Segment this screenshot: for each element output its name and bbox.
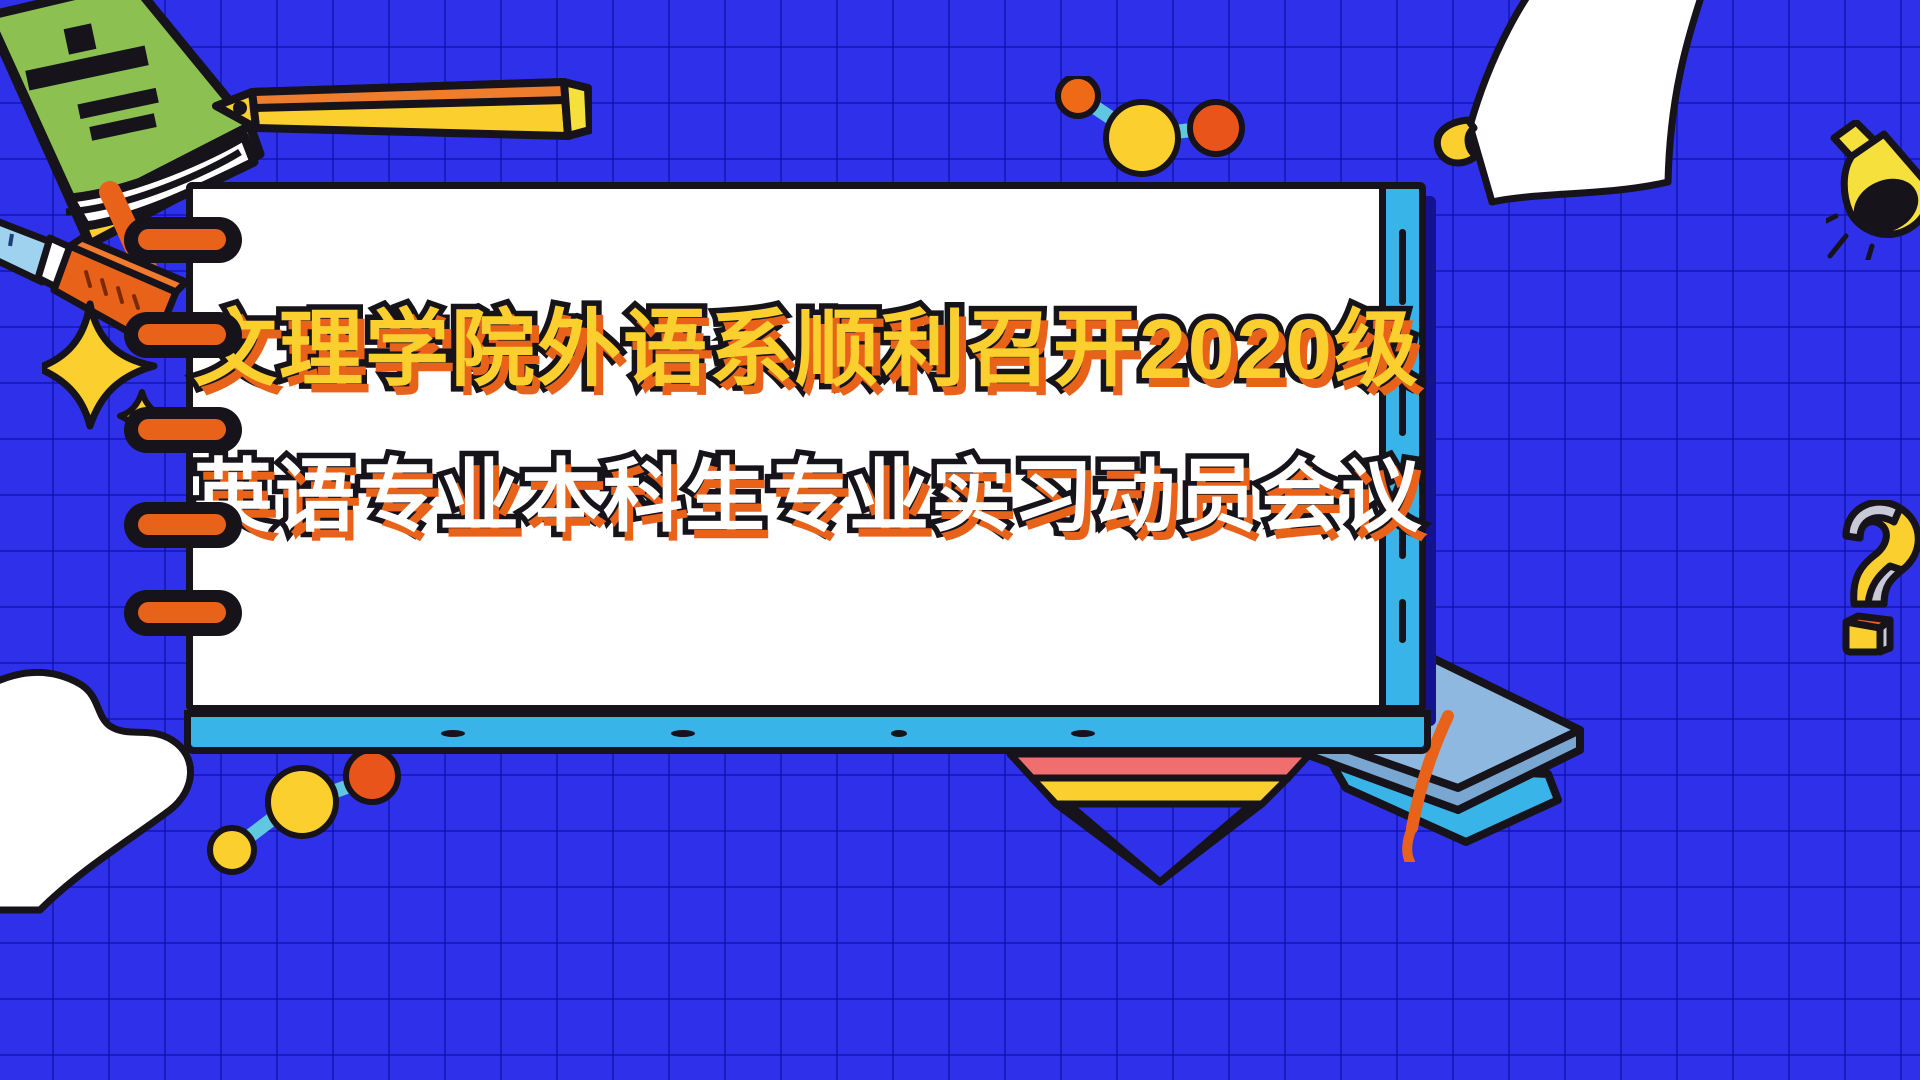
spiral-ring — [124, 502, 242, 548]
spiral-ring — [124, 312, 242, 358]
title-line-1: 文理学院外语系顺利召开2020级 — [193, 307, 1393, 391]
spiral-ring — [124, 217, 242, 263]
title-line-2: 英语专业本科生专业实习动员会议 — [193, 457, 1393, 537]
notebook-card: 文理学院外语系顺利召开2020级 英语专业本科生专业实习动员会议 — [186, 182, 1426, 712]
spiral-ring — [124, 407, 242, 453]
spiral-ring — [124, 590, 242, 636]
card-base-bar — [184, 710, 1431, 754]
card-page: 文理学院外语系顺利召开2020级 英语专业本科生专业实习动员会议 — [186, 182, 1426, 712]
title-block: 文理学院外语系顺利召开2020级 英语专业本科生专业实习动员会议 — [193, 307, 1393, 537]
